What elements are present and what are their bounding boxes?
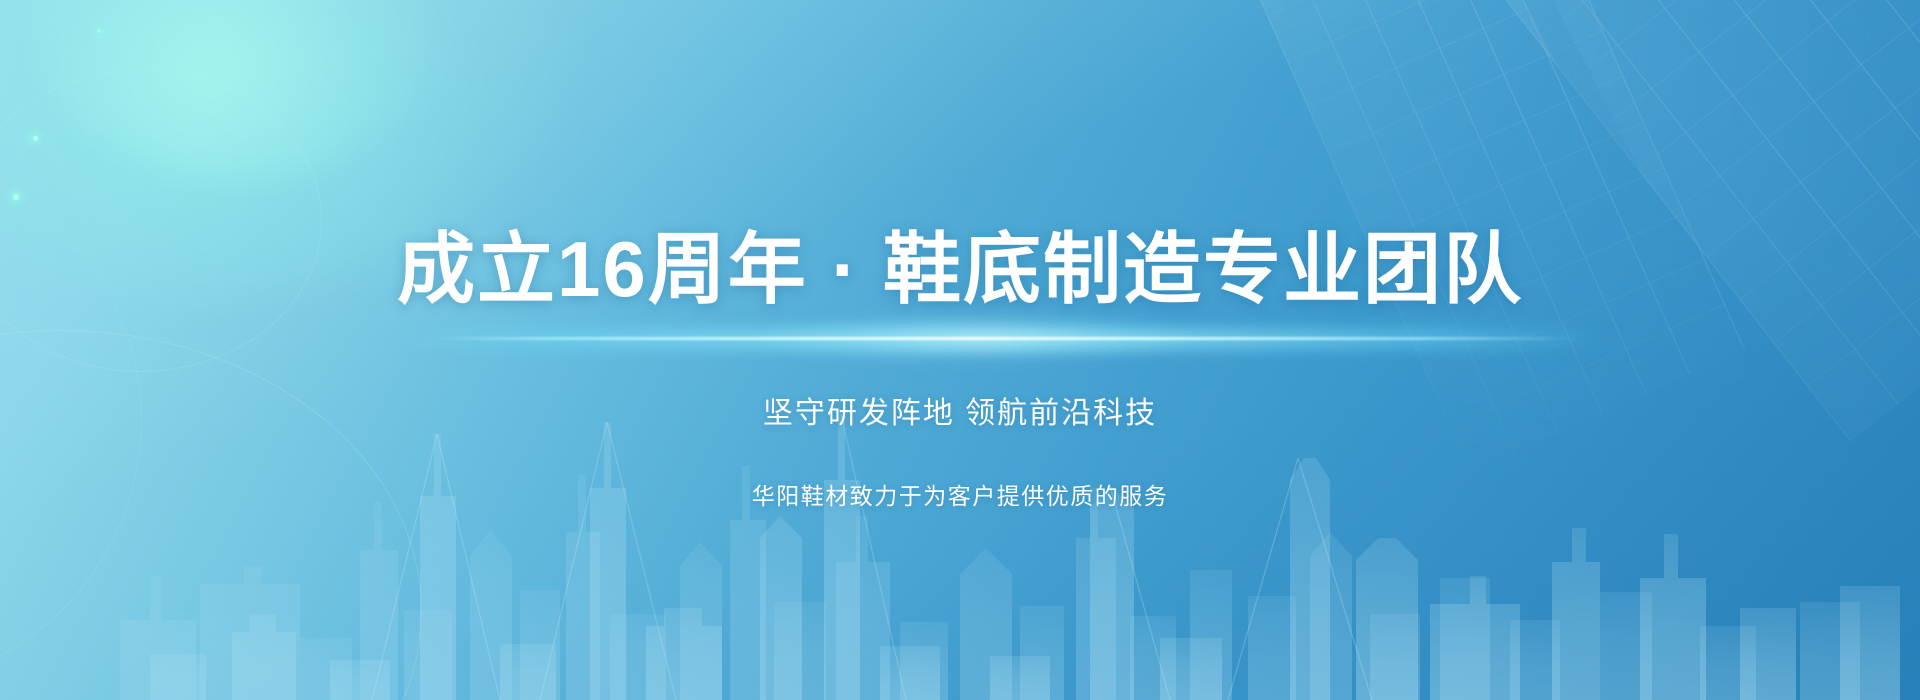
banner-headline: 成立16周年 · 鞋底制造专业团队 — [397, 226, 1523, 313]
banner-content: 成立16周年 · 鞋底制造专业团队 坚守研发阵地 领航前沿科技 华阳鞋材致力于为… — [0, 0, 1920, 700]
banner-subtitle-primary: 坚守研发阵地 领航前沿科技 — [763, 396, 1157, 432]
hero-banner: 成立16周年 · 鞋底制造专业团队 坚守研发阵地 领航前沿科技 华阳鞋材致力于为… — [0, 0, 1920, 700]
banner-subtitle-secondary: 华阳鞋材致力于为客户提供优质的服务 — [752, 483, 1169, 511]
